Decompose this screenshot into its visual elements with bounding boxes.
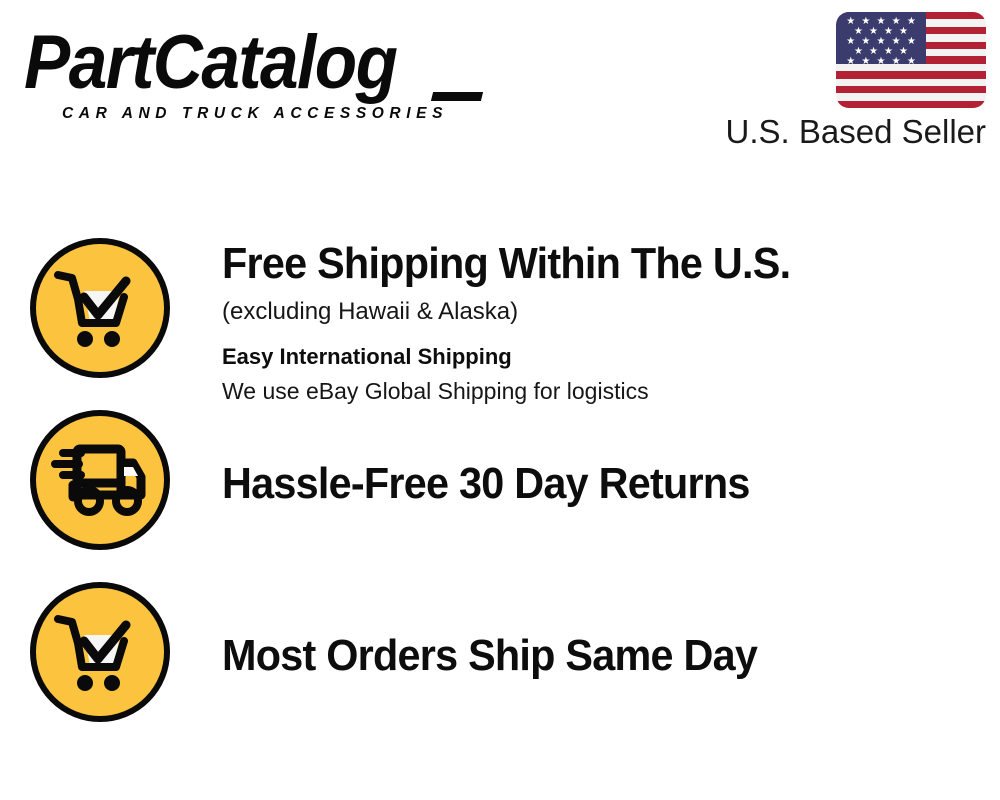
feature-text-block: Free Shipping Within The U.S. (excluding…: [200, 238, 1000, 407]
feature-subtitle: We use eBay Global Shipping for logistic…: [222, 376, 1000, 407]
star-icon: ★: [907, 17, 916, 27]
star-icon: ★: [877, 57, 886, 67]
us-based-seller-badge: ★ ★ ★ ★ ★ ★ ★ ★ ★ ★ ★ ★: [686, 12, 986, 151]
feature-row: Free Shipping Within The U.S. (excluding…: [0, 238, 1000, 407]
star-icon: ★: [846, 57, 855, 67]
flag-star-row: ★ ★ ★ ★ ★: [840, 17, 922, 27]
feature-icon-wrapper: [0, 238, 200, 378]
seller-info-banner: PartCatalog CAR AND TRUCK ACCESSORIES: [0, 0, 1000, 800]
feature-row: Most Orders Ship Same Day: [0, 582, 1000, 722]
feature-title: Free Shipping Within The U.S.: [222, 238, 953, 290]
star-icon: ★: [907, 57, 916, 67]
flag-canton: ★ ★ ★ ★ ★ ★ ★ ★ ★ ★ ★ ★: [836, 12, 926, 64]
feature-icon-wrapper: [0, 582, 200, 722]
flag-star-row: ★ ★ ★ ★ ★: [840, 57, 922, 67]
feature-icon-wrapper: [0, 410, 200, 550]
star-icon: ★: [861, 57, 870, 67]
logo-tagline: CAR AND TRUCK ACCESSORIES: [24, 105, 494, 123]
star-icon: ★: [892, 57, 901, 67]
us-flag-icon: ★ ★ ★ ★ ★ ★ ★ ★ ★ ★ ★ ★: [836, 12, 986, 108]
shopping-cart-check-icon: [30, 238, 170, 378]
logo-underline-stroke: [431, 92, 483, 101]
partcatalog-logo: PartCatalog CAR AND TRUCK ACCESSORIES: [24, 22, 494, 123]
feature-title: Most Orders Ship Same Day: [222, 630, 953, 682]
feature-text-block: Hassle-Free 30 Day Returns: [200, 410, 1000, 510]
feature-subtitle-strong: Easy International Shipping: [222, 342, 1000, 372]
logo-wordmark: PartCatalog: [24, 22, 503, 103]
delivery-truck-icon: [30, 410, 170, 550]
feature-text-block: Most Orders Ship Same Day: [200, 582, 1000, 682]
us-based-seller-label: U.S. Based Seller: [686, 113, 986, 151]
star-icon: ★: [907, 37, 916, 47]
feature-note: (excluding Hawaii & Alaska): [222, 296, 1000, 328]
flag-star-row: ★ ★ ★ ★ ★: [840, 37, 922, 47]
feature-row: Hassle-Free 30 Day Returns: [0, 410, 1000, 550]
feature-title: Hassle-Free 30 Day Returns: [222, 458, 953, 510]
banner-header: PartCatalog CAR AND TRUCK ACCESSORIES: [0, 0, 1000, 175]
shopping-cart-check-icon: [30, 582, 170, 722]
